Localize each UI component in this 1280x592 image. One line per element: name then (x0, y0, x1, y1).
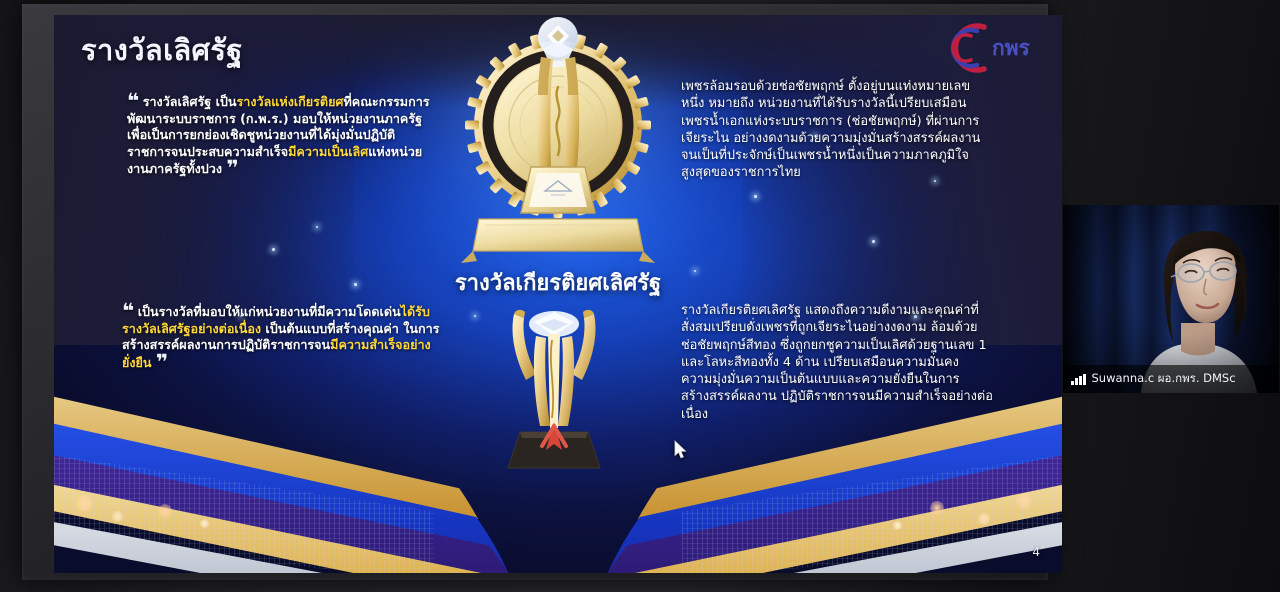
screen-capture: รางวัลเลิศรัฐ กพร (0, 0, 1280, 592)
sparkle-decoration (316, 226, 318, 228)
bokeh-decoration (893, 521, 902, 530)
description-bottom-right: รางวัลเกียรติยศเลิศรัฐ แสดงถึงความดีงามแ… (681, 302, 993, 423)
bokeh-decoration (158, 504, 172, 518)
plain-text: เป็นรางวัลที่มอบให้แก่หน่วยงานที่มีความโ… (138, 304, 401, 319)
mouse-cursor (674, 440, 687, 459)
highlighted-text: มีความเป็นเลิศ (288, 144, 368, 159)
participant-name-bar: Suwanna.c ผอ.กพร. DMSc (1063, 365, 1279, 393)
bokeh-decoration (978, 513, 990, 525)
kpr-logo: กพร (950, 21, 1038, 75)
quote-open-mark: ❝ (127, 89, 138, 113)
participant-name: Suwanna.c ผอ.กพร. DMSc (1092, 370, 1236, 388)
quote-top-left-body: รางวัลเลิศรัฐ เป็นรางวัลแห่งเกียรติยศที่… (127, 94, 430, 176)
award-trophy-secondary-icon (484, 300, 624, 472)
bokeh-decoration (930, 501, 944, 515)
quote-close-mark: ❞ (226, 156, 237, 180)
sparkle-decoration (872, 240, 875, 243)
sparkle-decoration (272, 248, 275, 251)
bokeh-decoration (76, 495, 93, 512)
presentation-slide: รางวัลเลิศรัฐ กพร (54, 15, 1062, 573)
highlighted-text: รางวัลแห่งเกียรติยศ (237, 94, 344, 109)
quote-bottom-left-body: เป็นรางวัลที่มอบให้แก่หน่วยงานที่มีความโ… (122, 304, 439, 370)
quote-block-top-left: ❝ รางวัลเลิศรัฐ เป็นรางวัลแห่งเกียรติยศท… (127, 93, 432, 178)
quote-block-bottom-left: ❝ เป็นรางวัลที่มอบให้แก่หน่วยงานที่มีควา… (122, 303, 442, 371)
bokeh-decoration (1016, 493, 1032, 509)
projector-bezel: รางวัลเลิศรัฐ กพร (22, 4, 1048, 580)
slide-page-number: 4 (1032, 545, 1040, 559)
audio-level-icon (1071, 374, 1086, 385)
participant-video-tile[interactable]: Suwanna.c ผอ.กพร. DMSc (1063, 205, 1279, 393)
quote-open-mark: ❝ (122, 299, 133, 323)
sparkle-decoration (754, 195, 757, 198)
section-heading: รางวัลเกียรติยศเลิศรัฐ (54, 265, 1062, 300)
description-top-right: เพชรล้อมรอบด้วยช่อชัยพฤกษ์ ตั้งอยู่บนแท่… (681, 78, 993, 182)
bokeh-decoration (200, 519, 209, 528)
sparkle-decoration (474, 315, 476, 317)
award-trophy-primary-icon (455, 15, 661, 265)
bokeh-decoration (112, 511, 123, 522)
plain-text: รางวัลเลิศรัฐ เป็น (143, 94, 237, 109)
page-title: รางวัลเลิศรัฐ (81, 27, 243, 73)
kpr-logo-text: กพร (992, 36, 1031, 60)
quote-close-mark: ❞ (156, 350, 167, 374)
